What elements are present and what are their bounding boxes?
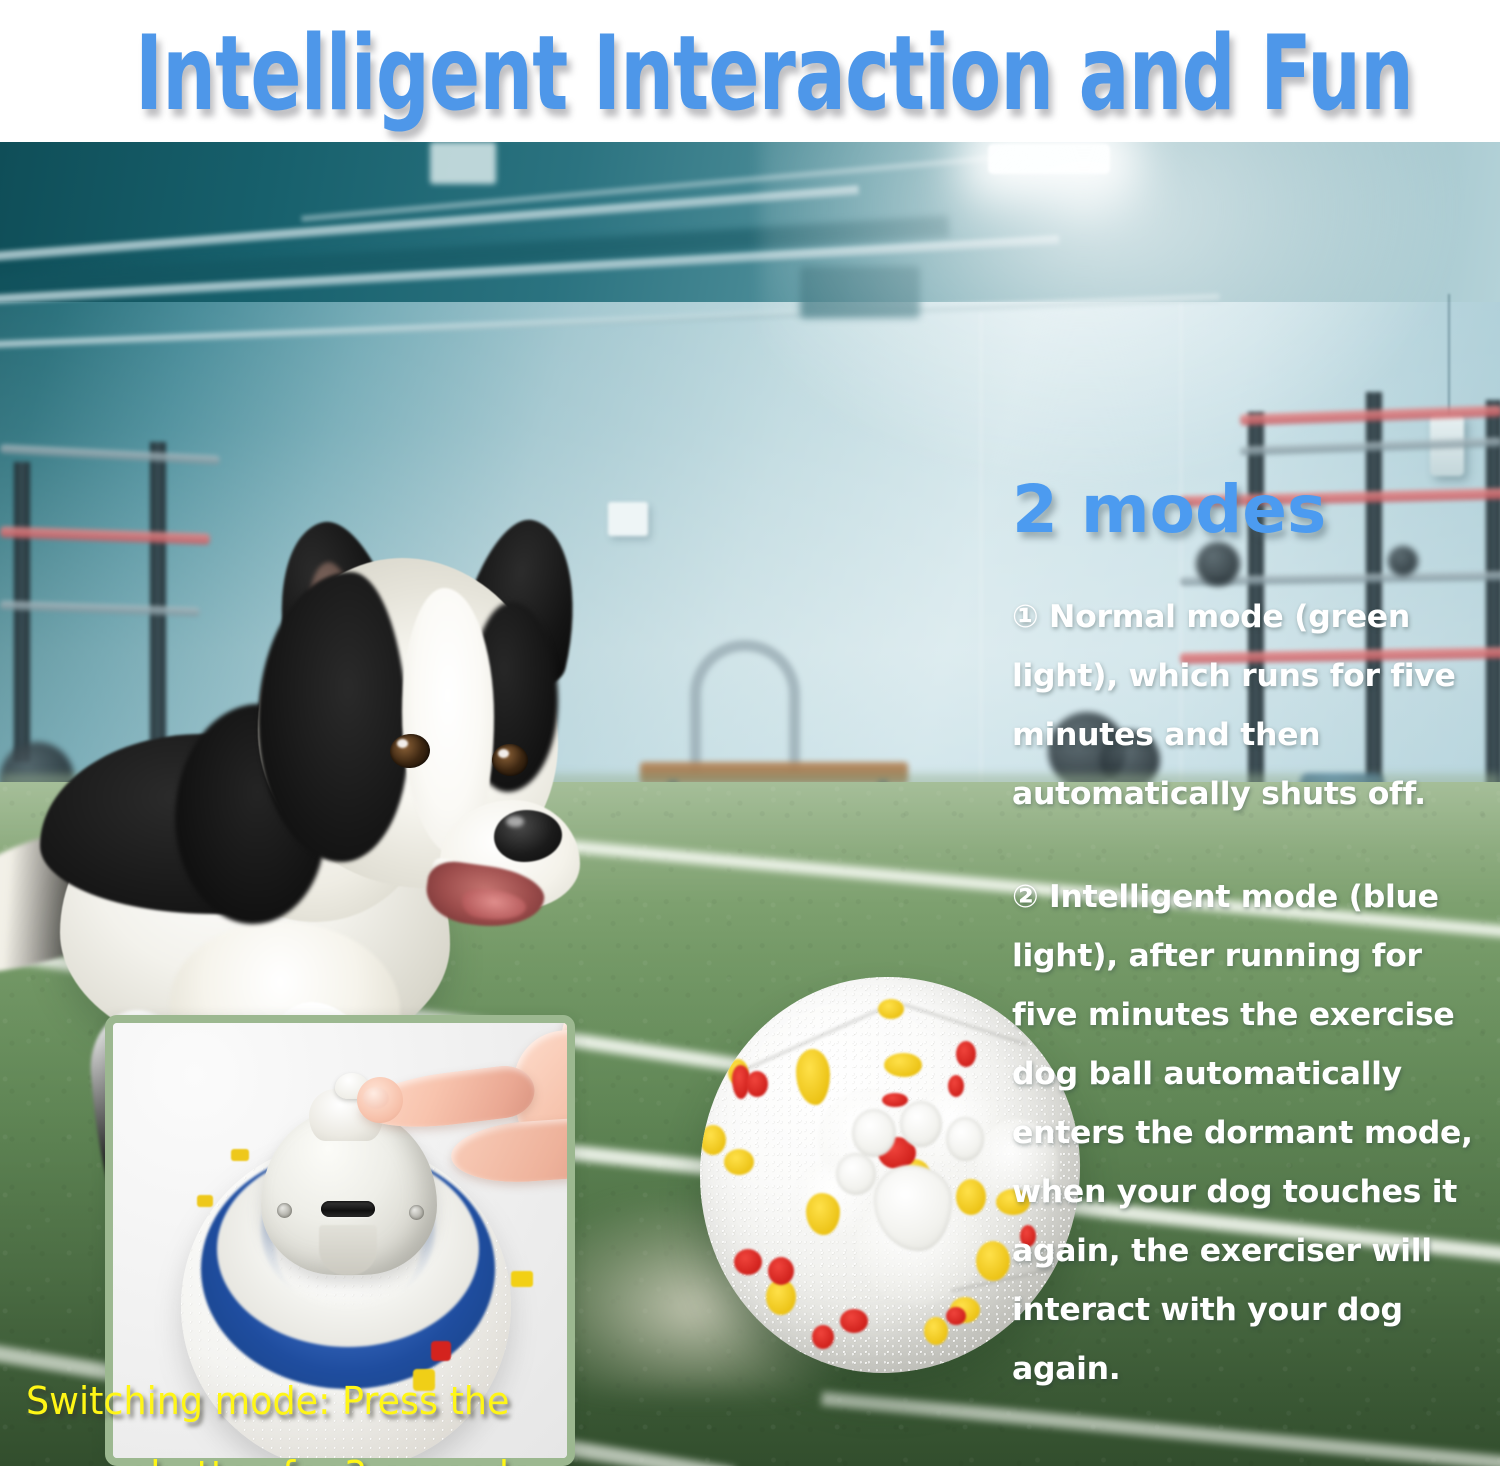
ball-spot-red bbox=[946, 1307, 966, 1325]
hanging-wire bbox=[1448, 294, 1450, 420]
ball-spot-red bbox=[882, 1093, 908, 1107]
module-screw bbox=[277, 1203, 292, 1218]
ball-spot-red bbox=[746, 1071, 768, 1097]
mode-paragraph-intelligent: ② Intelligent mode (blue light), after r… bbox=[1012, 868, 1482, 1399]
ball-spot-red bbox=[812, 1325, 834, 1349]
mode-paragraph-normal: ① Normal mode (green light), which runs … bbox=[1012, 588, 1482, 824]
switching-mode-caption: Switching mode: Press the power button f… bbox=[26, 1364, 706, 1466]
page-title: Intelligent Interaction and Fun bbox=[135, 0, 1365, 150]
nose-highlight bbox=[506, 816, 524, 827]
ball-spot-red bbox=[948, 1075, 964, 1097]
fingernail bbox=[363, 1087, 389, 1109]
hand-pressing-button bbox=[365, 1015, 575, 1215]
middle-finger bbox=[449, 1115, 575, 1187]
inset-spot-yellow bbox=[197, 1195, 213, 1207]
eye-highlight bbox=[498, 749, 509, 758]
ball-spot-yellow bbox=[884, 1053, 922, 1077]
inset-spot-yellow bbox=[511, 1271, 533, 1287]
inset-spot-yellow bbox=[231, 1149, 249, 1161]
ball-spot-red bbox=[956, 1041, 976, 1067]
wall-seam bbox=[980, 312, 982, 812]
ball-spot-yellow bbox=[878, 999, 904, 1019]
ball-spot-yellow bbox=[924, 1317, 948, 1345]
ball-spot-red bbox=[734, 1249, 762, 1275]
ball-paw-emblem bbox=[846, 1109, 996, 1259]
inset-spot-red bbox=[431, 1341, 451, 1361]
ball-spot-yellow bbox=[724, 1149, 754, 1175]
caption-line-2: power button for 3 seconds bbox=[26, 1438, 679, 1466]
title-band: Intelligent Interaction and Fun bbox=[0, 0, 1500, 142]
modes-text-column: 2 modes ① Normal mode (green light), whi… bbox=[1012, 472, 1482, 1399]
eye-highlight bbox=[397, 739, 408, 748]
ball-spot-red bbox=[840, 1309, 868, 1333]
product-feature-poster: Switching mode: Press the power button f… bbox=[0, 0, 1500, 1466]
ball-spot-yellow bbox=[700, 1125, 726, 1155]
modes-heading: 2 modes bbox=[1012, 472, 1482, 548]
equipment-rack bbox=[690, 640, 800, 772]
module-vent bbox=[319, 1225, 377, 1275]
dog-face-mask bbox=[258, 572, 408, 862]
caption-line-1: Switching mode: Press the bbox=[26, 1364, 679, 1438]
hero-photo: Switching mode: Press the power button f… bbox=[0, 142, 1500, 1466]
ball-spot-red bbox=[768, 1257, 794, 1285]
